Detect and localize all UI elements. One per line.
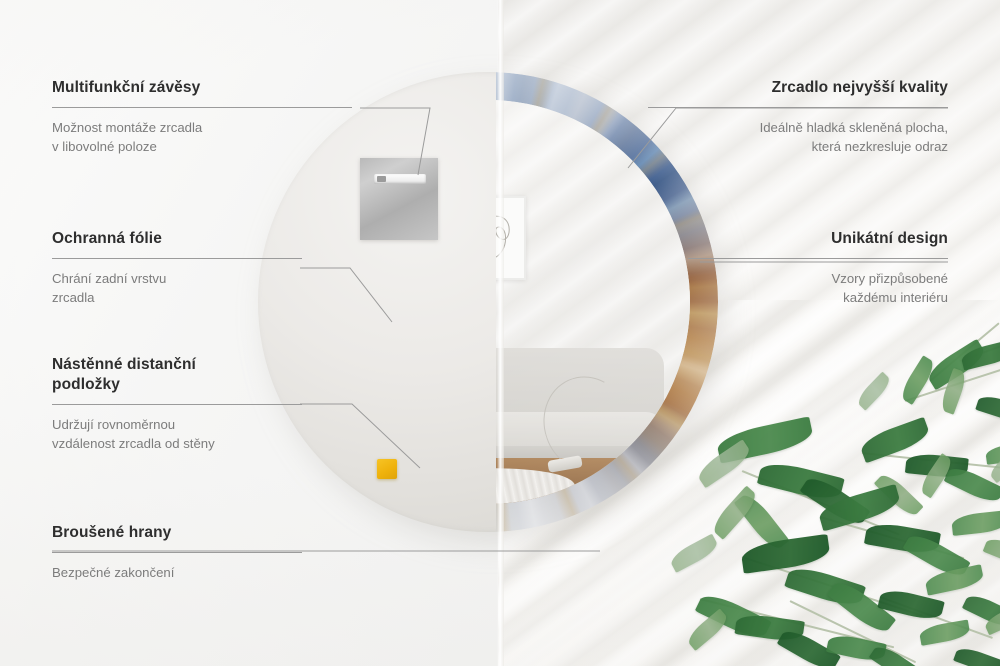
callout-title: Zrcadlo nejvyšší kvality bbox=[648, 78, 948, 98]
callout-nastenne-distancni-podlozky[interactable]: Nástěnné distanční podložky Udržují rovn… bbox=[52, 355, 302, 454]
callout-ochranna-folie[interactable]: Ochranná fólie Chrání zadní vrstvu zrcad… bbox=[52, 229, 302, 308]
callout-title: Unikátní design bbox=[688, 229, 948, 249]
infographic-canvas: Multifunkční závěsy Možnost montáže zrca… bbox=[0, 0, 1000, 666]
callout-brousene-hrany[interactable]: Broušené hrany Bezpečné zakončení bbox=[52, 523, 302, 583]
callout-description: Bezpečné zakončení bbox=[52, 564, 302, 583]
hanger-keyhole-slot bbox=[374, 174, 426, 184]
callout-rule bbox=[648, 107, 948, 108]
callout-unikatni-design[interactable]: Unikátní design Vzory přizpůsobené každé… bbox=[688, 229, 948, 308]
callout-rule bbox=[52, 107, 352, 108]
callout-description: Ideálně hladká skleněná plocha, která ne… bbox=[648, 119, 948, 156]
callout-title: Ochranná fólie bbox=[52, 229, 302, 249]
callout-title: Broušené hrany bbox=[52, 523, 302, 543]
callout-multifunkcni-zavesy[interactable]: Multifunkční závěsy Možnost montáže zrca… bbox=[52, 78, 352, 157]
callout-description: Chrání zadní vrstvu zrcadla bbox=[52, 270, 302, 307]
callout-description: Udržují rovnoměrnou vzdálenost zrcadla o… bbox=[52, 416, 302, 453]
callout-title: Nástěnné distanční podložky bbox=[52, 355, 302, 395]
callout-rule bbox=[688, 258, 948, 259]
callout-title: Multifunkční závěsy bbox=[52, 78, 352, 98]
callout-rule bbox=[52, 404, 302, 405]
callout-description: Vzory přizpůsobené každému interiéru bbox=[688, 270, 948, 307]
hanger-plate bbox=[360, 158, 438, 240]
view-divider-seam bbox=[497, 0, 504, 666]
wall-spacer-pad bbox=[377, 459, 397, 479]
callout-rule bbox=[52, 552, 302, 553]
callout-rule bbox=[52, 258, 302, 259]
callout-description: Možnost montáže zrcadla v libovolné polo… bbox=[52, 119, 352, 156]
callout-zrcadlo-nejvyssi-kvality[interactable]: Zrcadlo nejvyšší kvality Ideálně hladká … bbox=[648, 78, 948, 157]
